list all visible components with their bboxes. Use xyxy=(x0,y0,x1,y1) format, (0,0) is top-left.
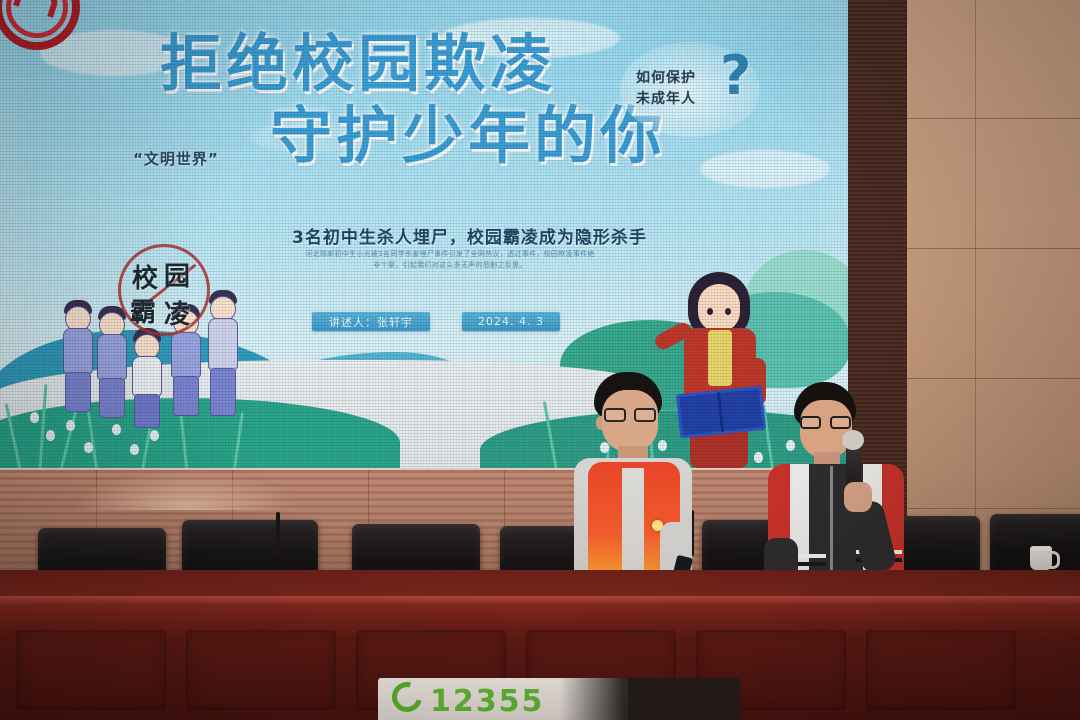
slide-subheadline: 3名初中生杀人埋尸，校园霸凌成为隐形杀手 xyxy=(292,223,647,248)
red-emblem-logo xyxy=(0,0,96,54)
cloud-question-line-2: 未成年人 xyxy=(636,89,696,110)
badge-speaker: 讲述人：张轩宇 xyxy=(312,312,430,331)
headline-line-2: 守护少年的你 xyxy=(160,100,680,172)
slide-bodytext: 河北邯郸初中生小光被3名同学杀害埋尸事件引发了全网热议，透过事件，校园欺凌事件绝… xyxy=(305,249,595,271)
wall-light-reflection xyxy=(70,470,300,510)
cloud-question-line-1: 如何保护 xyxy=(636,68,696,89)
question-cloud: 如何保护 未成年人 ? xyxy=(620,42,760,137)
hotline-leaf-icon xyxy=(387,678,428,717)
badge-date: 2024. 4. 3 xyxy=(462,312,560,331)
slide-headline: 拒绝校园欺凌 守护少年的你 xyxy=(160,28,680,172)
stamp-char-3: 霸 xyxy=(130,292,156,329)
eyeglasses-icon xyxy=(604,408,662,423)
coffee-mug xyxy=(1030,546,1052,570)
banner-occlusion-shadow xyxy=(560,678,740,720)
no-bullying-stamp: 校 园 霸 凌 xyxy=(118,244,210,336)
civilized-world-tag: “文明世界” xyxy=(133,148,219,169)
desk-microphone xyxy=(276,512,280,556)
eyeglasses-icon xyxy=(800,416,856,430)
hotline-number: 12355 xyxy=(430,684,544,719)
headline-line-1: 拒绝校园欺凌 xyxy=(160,28,680,100)
stamp-char-2: 园 xyxy=(164,256,190,293)
stamp-char-4: 凌 xyxy=(164,294,190,331)
stamp-char-1: 校 xyxy=(132,258,158,295)
question-mark-icon: ? xyxy=(720,44,751,107)
screenshot-root: 校 园 霸 凌 拒绝校园欺凌 守护少年的你 “文明世界” xyxy=(0,0,1080,720)
